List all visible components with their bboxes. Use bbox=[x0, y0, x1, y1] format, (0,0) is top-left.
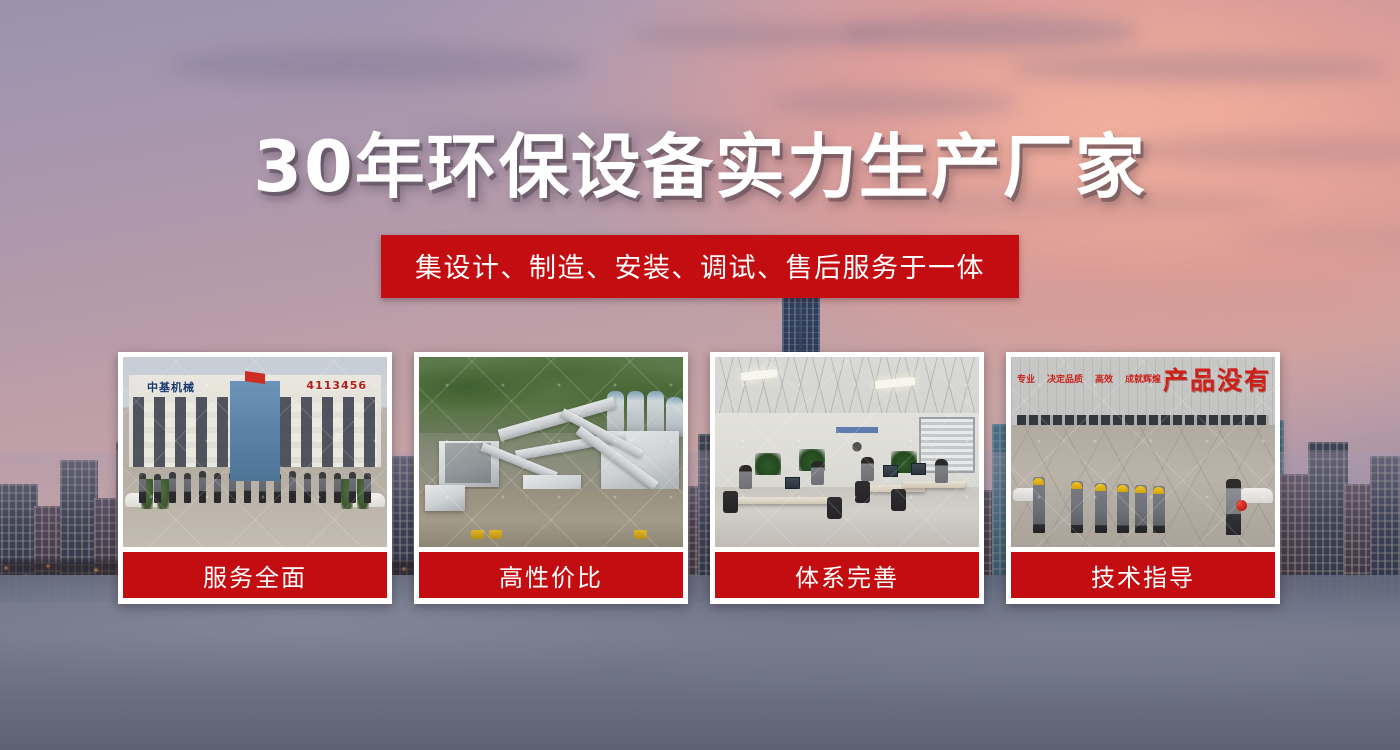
feature-card[interactable]: 产品没有 专业 决定品质 高效 成就辉煌 bbox=[1006, 352, 1280, 604]
feature-card-row: 中基机械 4113456 bbox=[118, 352, 1280, 604]
slogan-text: 成就辉煌 bbox=[1125, 375, 1161, 386]
subtitle-bar-wrapper: 集设计、制造、安装、调试、售后服务于一体 bbox=[0, 235, 1400, 298]
feature-card[interactable]: 高性价比 bbox=[414, 352, 688, 604]
slogan-text: 高效 bbox=[1095, 375, 1113, 386]
workshop-team-photo: 产品没有 专业 决定品质 高效 成就辉煌 bbox=[1011, 357, 1275, 547]
factory-slogans: 专业 决定品质 高效 成就辉煌 bbox=[1017, 375, 1161, 386]
building-sign-text: 中基机械 bbox=[147, 379, 195, 395]
promo-banner: 30年环保设备实力生产厂家 集设计、制造、安装、调试、售后服务于一体 中基机械 … bbox=[0, 0, 1400, 750]
feature-card[interactable]: 体系完善 bbox=[710, 352, 984, 604]
feature-card[interactable]: 中基机械 4113456 bbox=[118, 352, 392, 604]
card-caption: 高性价比 bbox=[419, 552, 683, 598]
cloud-streak bbox=[630, 23, 890, 47]
slogan-text: 决定品质 bbox=[1047, 375, 1083, 386]
factory-sign-text: 产品没有 bbox=[1163, 361, 1271, 397]
production-plant-aerial-photo bbox=[419, 357, 683, 547]
building-phone-text: 4113456 bbox=[306, 379, 367, 392]
slogan-text: 专业 bbox=[1017, 375, 1035, 386]
card-caption: 技术指导 bbox=[1011, 552, 1275, 598]
card-caption: 体系完善 bbox=[715, 552, 979, 598]
cloud-streak bbox=[168, 45, 588, 85]
cloud-streak bbox=[1008, 53, 1388, 83]
office-interior-photo bbox=[715, 357, 979, 547]
card-caption: 服务全面 bbox=[123, 552, 387, 598]
company-headquarters-photo: 中基机械 4113456 bbox=[123, 357, 387, 547]
cloud-streak bbox=[770, 90, 1020, 116]
page-title: 30年环保设备实力生产厂家 bbox=[0, 128, 1400, 206]
subtitle-banner: 集设计、制造、安装、调试、售后服务于一体 bbox=[381, 235, 1019, 298]
